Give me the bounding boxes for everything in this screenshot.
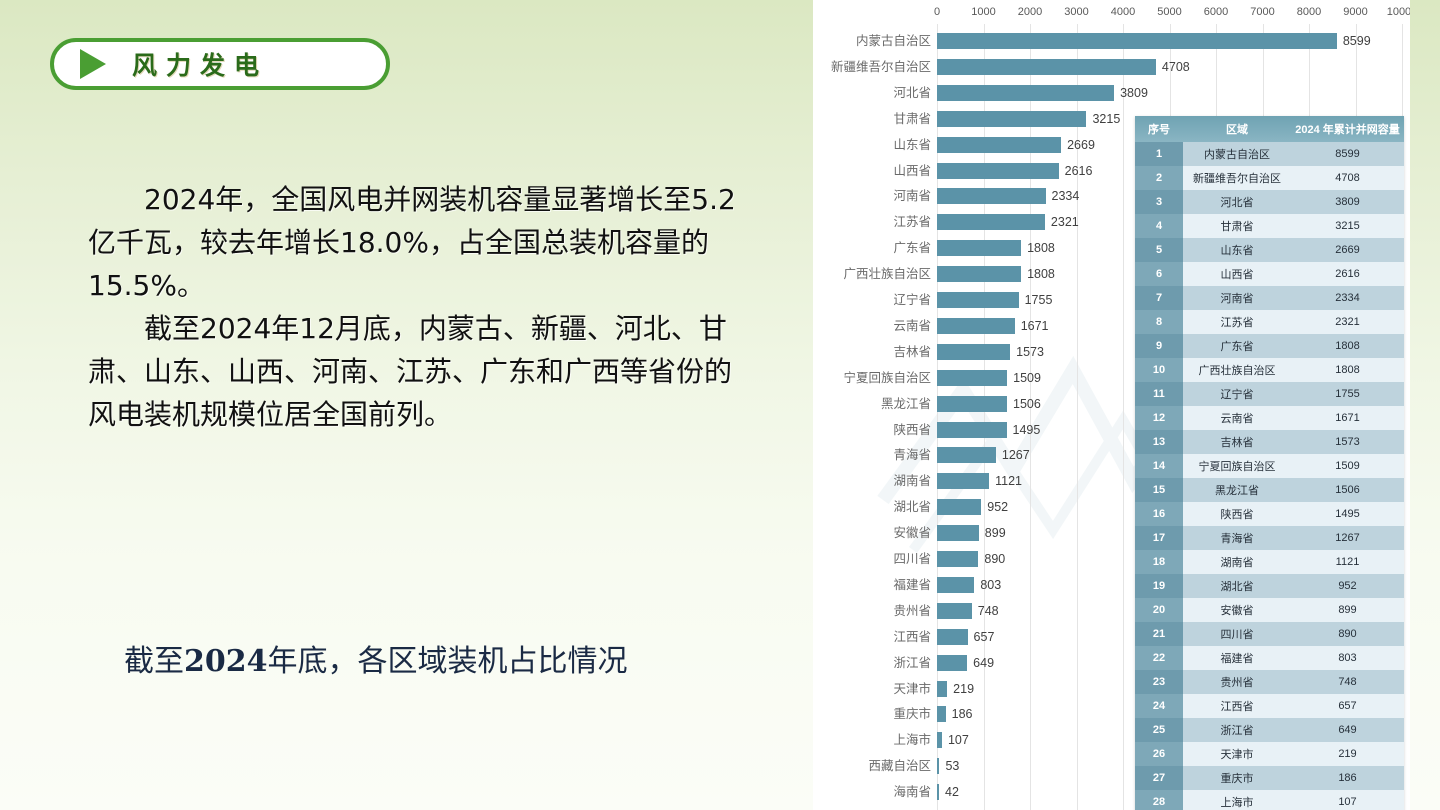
bar-value-label: 2334 — [1052, 185, 1080, 207]
x-axis-tick-label: 9000 — [1343, 6, 1367, 18]
bar-category-label: 河南省 — [813, 185, 931, 207]
bar-rect[interactable] — [937, 447, 996, 463]
bar-category-label: 宁夏回族自治区 — [813, 367, 931, 389]
table-cell-index: 25 — [1135, 718, 1183, 742]
bar-value-label: 1267 — [1002, 444, 1030, 466]
bar-value-label: 3215 — [1092, 108, 1120, 130]
chart-caption: 截至2024年底，各区域装机占比情况 — [124, 636, 764, 680]
table-cell-region: 湖南省 — [1183, 550, 1291, 574]
caption-year: 2024 — [184, 644, 268, 679]
bar-value-label: 4708 — [1162, 56, 1190, 78]
table-cell-index: 6 — [1135, 262, 1183, 286]
table-cell-index: 19 — [1135, 574, 1183, 598]
bar-rect[interactable] — [937, 214, 1045, 230]
table-cell-index: 5 — [1135, 238, 1183, 262]
bar-category-label: 新疆维吾尔自治区 — [813, 56, 931, 78]
bar-category-label: 湖北省 — [813, 496, 931, 518]
x-axis-tick-label: 10000 — [1387, 6, 1410, 18]
table-cell-region: 天津市 — [1183, 742, 1291, 766]
x-axis-tick-label: 5000 — [1157, 6, 1181, 18]
bar-category-label: 吉林省 — [813, 341, 931, 363]
table-cell-index: 13 — [1135, 430, 1183, 454]
table-row[interactable]: 3河北省3809 — [1135, 190, 1404, 214]
bar-value-label: 2616 — [1065, 160, 1093, 182]
bar-rect[interactable] — [937, 59, 1156, 75]
section-title-label: 风力发电 — [132, 46, 268, 82]
table-cell-index: 12 — [1135, 406, 1183, 430]
table-cell-region: 广东省 — [1183, 334, 1291, 358]
bar-rect[interactable] — [937, 577, 974, 593]
table-header-index: 序号 — [1135, 116, 1183, 142]
table-row[interactable]: 2新疆维吾尔自治区4708 — [1135, 166, 1404, 190]
bar-category-label: 江苏省 — [813, 211, 931, 233]
table-row[interactable]: 7河南省2334 — [1135, 286, 1404, 310]
table-cell-capacity: 1573 — [1291, 430, 1404, 454]
bar-value-label: 1755 — [1025, 289, 1053, 311]
bar-rect[interactable] — [937, 137, 1061, 153]
table-cell-region: 辽宁省 — [1183, 382, 1291, 406]
table-row[interactable]: 15黑龙江省1506 — [1135, 478, 1404, 502]
table-row[interactable]: 25浙江省649 — [1135, 718, 1404, 742]
table-cell-index: 4 — [1135, 214, 1183, 238]
table-cell-region: 安徽省 — [1183, 598, 1291, 622]
bar-category-label: 贵州省 — [813, 600, 931, 622]
body-paragraph-2: 截至2024年12月底，内蒙古、新疆、河北、甘肃、山东、山西、河南、江苏、广东和… — [88, 307, 748, 436]
table-cell-capacity: 4708 — [1291, 166, 1404, 190]
bar-category-label: 西藏自治区 — [813, 755, 931, 777]
bar-category-label: 辽宁省 — [813, 289, 931, 311]
table-cell-capacity: 3809 — [1291, 190, 1404, 214]
table-cell-capacity: 1495 — [1291, 502, 1404, 526]
bar-value-label: 53 — [945, 755, 959, 777]
table-row[interactable]: 17青海省1267 — [1135, 526, 1404, 550]
table-cell-capacity: 2334 — [1291, 286, 1404, 310]
bar-value-label: 899 — [985, 522, 1006, 544]
table-cell-region: 福建省 — [1183, 646, 1291, 670]
bar-rect[interactable] — [937, 551, 978, 567]
bar-category-label: 甘肃省 — [813, 108, 931, 130]
table-cell-capacity: 1506 — [1291, 478, 1404, 502]
table-cell-region: 浙江省 — [1183, 718, 1291, 742]
table-cell-capacity: 890 — [1291, 622, 1404, 646]
body-text-block: 2024年，全国风电并网装机容量显著增长至5.2亿千瓦，较去年增长18.0%，占… — [88, 178, 748, 436]
table-cell-capacity: 3215 — [1291, 214, 1404, 238]
bar-category-label: 广东省 — [813, 237, 931, 259]
x-axis-tick-label: 1000 — [971, 6, 995, 18]
bar-category-label: 天津市 — [813, 678, 931, 700]
bar-rect[interactable] — [937, 292, 1019, 308]
bar-value-label: 890 — [984, 548, 1005, 570]
table-row[interactable]: 21四川省890 — [1135, 622, 1404, 646]
table-cell-region: 贵州省 — [1183, 670, 1291, 694]
bar-category-label: 云南省 — [813, 315, 931, 337]
table-cell-capacity: 657 — [1291, 694, 1404, 718]
table-cell-region: 新疆维吾尔自治区 — [1183, 166, 1291, 190]
x-axis-tick-label: 4000 — [1111, 6, 1135, 18]
table-cell-region: 黑龙江省 — [1183, 478, 1291, 502]
table-header-capacity: 2024 年累计并网容量 — [1291, 116, 1404, 142]
table-cell-index: 7 — [1135, 286, 1183, 310]
bar-category-label: 海南省 — [813, 781, 931, 803]
table-cell-region: 青海省 — [1183, 526, 1291, 550]
bar-category-label: 四川省 — [813, 548, 931, 570]
table-cell-region: 广西壮族自治区 — [1183, 358, 1291, 382]
bar-category-label: 湖南省 — [813, 470, 931, 492]
bar-rect[interactable] — [937, 370, 1007, 386]
x-axis-tick-label: 0 — [934, 6, 940, 18]
bar-rect[interactable] — [937, 655, 967, 671]
bar-category-label: 重庆市 — [813, 703, 931, 725]
bar-value-label: 219 — [953, 678, 974, 700]
table-cell-index: 2 — [1135, 166, 1183, 190]
table-cell-index: 15 — [1135, 478, 1183, 502]
x-axis-tick-label: 8000 — [1297, 6, 1321, 18]
bar-value-label: 1495 — [1013, 419, 1041, 441]
table-cell-region: 江西省 — [1183, 694, 1291, 718]
table-cell-capacity: 649 — [1291, 718, 1404, 742]
table-cell-index: 17 — [1135, 526, 1183, 550]
table-row[interactable]: 24江西省657 — [1135, 694, 1404, 718]
table-row[interactable]: 27重庆市186 — [1135, 766, 1404, 790]
table-cell-capacity: 1267 — [1291, 526, 1404, 550]
table-cell-capacity: 219 — [1291, 742, 1404, 766]
bar-value-label: 748 — [978, 600, 999, 622]
table-cell-index: 10 — [1135, 358, 1183, 382]
bar-value-label: 42 — [945, 781, 959, 803]
bar-category-label: 河北省 — [813, 82, 931, 104]
table-row[interactable]: 11辽宁省1755 — [1135, 382, 1404, 406]
table-cell-region: 内蒙古自治区 — [1183, 142, 1291, 166]
bar-value-label: 3809 — [1120, 82, 1148, 104]
table-cell-region: 山东省 — [1183, 238, 1291, 262]
bar-value-label: 107 — [948, 729, 969, 751]
x-axis-tick-label: 2000 — [1018, 6, 1042, 18]
bar-value-label: 1573 — [1016, 341, 1044, 363]
x-axis-tick-label: 7000 — [1250, 6, 1274, 18]
bar-value-label: 803 — [980, 574, 1001, 596]
capacity-data-table[interactable]: 序号 区域 2024 年累计并网容量 1内蒙古自治区85992新疆维吾尔自治区4… — [1135, 116, 1404, 810]
bar-category-label: 陕西省 — [813, 419, 931, 441]
table-cell-region: 上海市 — [1183, 790, 1291, 810]
table-row[interactable]: 10广西壮族自治区1808 — [1135, 358, 1404, 382]
bar-rect[interactable] — [937, 629, 968, 645]
table-cell-index: 16 — [1135, 502, 1183, 526]
bar-rect[interactable] — [937, 163, 1059, 179]
table-cell-capacity: 1808 — [1291, 358, 1404, 382]
table-row[interactable]: 19湖北省952 — [1135, 574, 1404, 598]
bar-rect[interactable] — [937, 758, 939, 774]
table-cell-index: 27 — [1135, 766, 1183, 790]
bar-category-label: 内蒙古自治区 — [813, 30, 931, 52]
table-cell-capacity: 1808 — [1291, 334, 1404, 358]
table-cell-index: 18 — [1135, 550, 1183, 574]
section-title-badge: 风力发电 — [50, 38, 390, 90]
table-cell-capacity: 1121 — [1291, 550, 1404, 574]
table-cell-index: 24 — [1135, 694, 1183, 718]
table-row[interactable]: 13吉林省1573 — [1135, 430, 1404, 454]
bar-value-label: 2669 — [1067, 134, 1095, 156]
bar-value-label: 649 — [973, 652, 994, 674]
bar-category-label: 安徽省 — [813, 522, 931, 544]
bar-category-label: 浙江省 — [813, 652, 931, 674]
table-cell-region: 宁夏回族自治区 — [1183, 454, 1291, 478]
bar-category-label: 上海市 — [813, 729, 931, 751]
table-cell-index: 26 — [1135, 742, 1183, 766]
x-axis-tick-label: 3000 — [1064, 6, 1088, 18]
bar-category-label: 青海省 — [813, 444, 931, 466]
table-cell-capacity: 107 — [1291, 790, 1404, 810]
table-cell-index: 8 — [1135, 310, 1183, 334]
table-cell-index: 14 — [1135, 454, 1183, 478]
bar-rect[interactable] — [937, 111, 1086, 127]
x-axis-tick-label: 6000 — [1204, 6, 1228, 18]
table-cell-index: 22 — [1135, 646, 1183, 670]
table-cell-index: 1 — [1135, 142, 1183, 166]
table-cell-region: 河南省 — [1183, 286, 1291, 310]
bar-value-label: 1808 — [1027, 263, 1055, 285]
table-cell-region: 江苏省 — [1183, 310, 1291, 334]
bar-value-label: 1121 — [995, 470, 1022, 492]
table-row[interactable]: 28上海市107 — [1135, 790, 1404, 810]
table-header-region: 区域 — [1183, 116, 1291, 142]
play-triangle-icon — [80, 49, 106, 79]
table-cell-index: 23 — [1135, 670, 1183, 694]
bar-chart-row: 新疆维吾尔自治区4708 — [813, 56, 1410, 78]
bar-rect[interactable] — [937, 681, 947, 697]
bar-rect[interactable] — [937, 603, 972, 619]
table-row[interactable]: 23贵州省748 — [1135, 670, 1404, 694]
table-cell-capacity: 8599 — [1291, 142, 1404, 166]
bar-rect[interactable] — [937, 422, 1007, 438]
table-row[interactable]: 8江苏省2321 — [1135, 310, 1404, 334]
table-cell-capacity: 748 — [1291, 670, 1404, 694]
bar-rect[interactable] — [937, 706, 946, 722]
table-cell-capacity: 1671 — [1291, 406, 1404, 430]
table-cell-region: 重庆市 — [1183, 766, 1291, 790]
bar-category-label: 江西省 — [813, 626, 931, 648]
table-cell-region: 河北省 — [1183, 190, 1291, 214]
table-cell-capacity: 803 — [1291, 646, 1404, 670]
table-cell-index: 9 — [1135, 334, 1183, 358]
table-cell-region: 四川省 — [1183, 622, 1291, 646]
caption-prefix: 截至 — [124, 644, 184, 679]
bar-rect[interactable] — [937, 525, 979, 541]
left-content-panel: 风力发电 2024年，全国风电并网装机容量显著增长至5.2亿千瓦，较去年增长18… — [0, 0, 813, 810]
body-paragraph-1: 2024年，全国风电并网装机容量显著增长至5.2亿千瓦，较去年增长18.0%，占… — [88, 178, 748, 307]
table-row[interactable]: 4甘肃省3215 — [1135, 214, 1404, 238]
chart-and-table-panel: 0100020003000400050006000700080009000100… — [813, 0, 1410, 810]
table-cell-capacity: 952 — [1291, 574, 1404, 598]
table-cell-capacity: 1509 — [1291, 454, 1404, 478]
table-header-row: 序号 区域 2024 年累计并网容量 — [1135, 116, 1404, 142]
bar-rect[interactable] — [937, 266, 1021, 282]
table-cell-capacity: 1755 — [1291, 382, 1404, 406]
bar-rect[interactable] — [937, 318, 1015, 334]
bar-rect[interactable] — [937, 85, 1114, 101]
table-row[interactable]: 1内蒙古自治区8599 — [1135, 142, 1404, 166]
bar-rect[interactable] — [937, 499, 981, 515]
table-cell-region: 吉林省 — [1183, 430, 1291, 454]
bar-chart-row: 河北省3809 — [813, 82, 1410, 104]
bar-value-label: 1506 — [1013, 393, 1041, 415]
table-row[interactable]: 26天津市219 — [1135, 742, 1404, 766]
bar-category-label: 山东省 — [813, 134, 931, 156]
table-cell-region: 山西省 — [1183, 262, 1291, 286]
table-row[interactable]: 20安徽省899 — [1135, 598, 1404, 622]
bar-value-label: 8599 — [1343, 30, 1371, 52]
table-cell-index: 20 — [1135, 598, 1183, 622]
table-row[interactable]: 9广东省1808 — [1135, 334, 1404, 358]
bar-rect[interactable] — [937, 732, 942, 748]
table-cell-region: 甘肃省 — [1183, 214, 1291, 238]
caption-suffix: 年底，各区域装机占比情况 — [268, 644, 628, 679]
bar-value-label: 657 — [974, 626, 995, 648]
table-row[interactable]: 18湖南省1121 — [1135, 550, 1404, 574]
bar-rect[interactable] — [937, 784, 939, 800]
table-cell-region: 湖北省 — [1183, 574, 1291, 598]
bar-category-label: 广西壮族自治区 — [813, 263, 931, 285]
table-row[interactable]: 22福建省803 — [1135, 646, 1404, 670]
table-row[interactable]: 6山西省2616 — [1135, 262, 1404, 286]
table-row[interactable]: 12云南省1671 — [1135, 406, 1404, 430]
bar-value-label: 186 — [952, 703, 973, 725]
bar-rect[interactable] — [937, 240, 1021, 256]
table-row[interactable]: 5山东省2669 — [1135, 238, 1404, 262]
bar-value-label: 1509 — [1013, 367, 1041, 389]
bar-category-label: 福建省 — [813, 574, 931, 596]
bar-category-label: 黑龙江省 — [813, 393, 931, 415]
table-cell-index: 3 — [1135, 190, 1183, 214]
table-cell-index: 21 — [1135, 622, 1183, 646]
table-cell-index: 28 — [1135, 790, 1183, 810]
table-cell-capacity: 2669 — [1291, 238, 1404, 262]
table-cell-capacity: 2321 — [1291, 310, 1404, 334]
table-cell-capacity: 186 — [1291, 766, 1404, 790]
bar-rect[interactable] — [937, 396, 1007, 412]
table-body: 1内蒙古自治区85992新疆维吾尔自治区47083河北省38094甘肃省3215… — [1135, 142, 1404, 810]
bar-value-label: 1808 — [1027, 237, 1055, 259]
bar-value-label: 1671 — [1021, 315, 1049, 337]
table-cell-capacity: 2616 — [1291, 262, 1404, 286]
bar-rect[interactable] — [937, 473, 989, 489]
bar-rect[interactable] — [937, 344, 1010, 360]
table-cell-index: 11 — [1135, 382, 1183, 406]
table-cell-region: 云南省 — [1183, 406, 1291, 430]
bar-rect[interactable] — [937, 188, 1046, 204]
bar-rect[interactable] — [937, 33, 1337, 49]
bar-value-label: 952 — [987, 496, 1008, 518]
table-row[interactable]: 14宁夏回族自治区1509 — [1135, 454, 1404, 478]
table-cell-capacity: 899 — [1291, 598, 1404, 622]
table-cell-region: 陕西省 — [1183, 502, 1291, 526]
bar-chart-row: 内蒙古自治区8599 — [813, 30, 1410, 52]
bar-value-label: 2321 — [1051, 211, 1079, 233]
bar-category-label: 山西省 — [813, 160, 931, 182]
table-row[interactable]: 16陕西省1495 — [1135, 502, 1404, 526]
